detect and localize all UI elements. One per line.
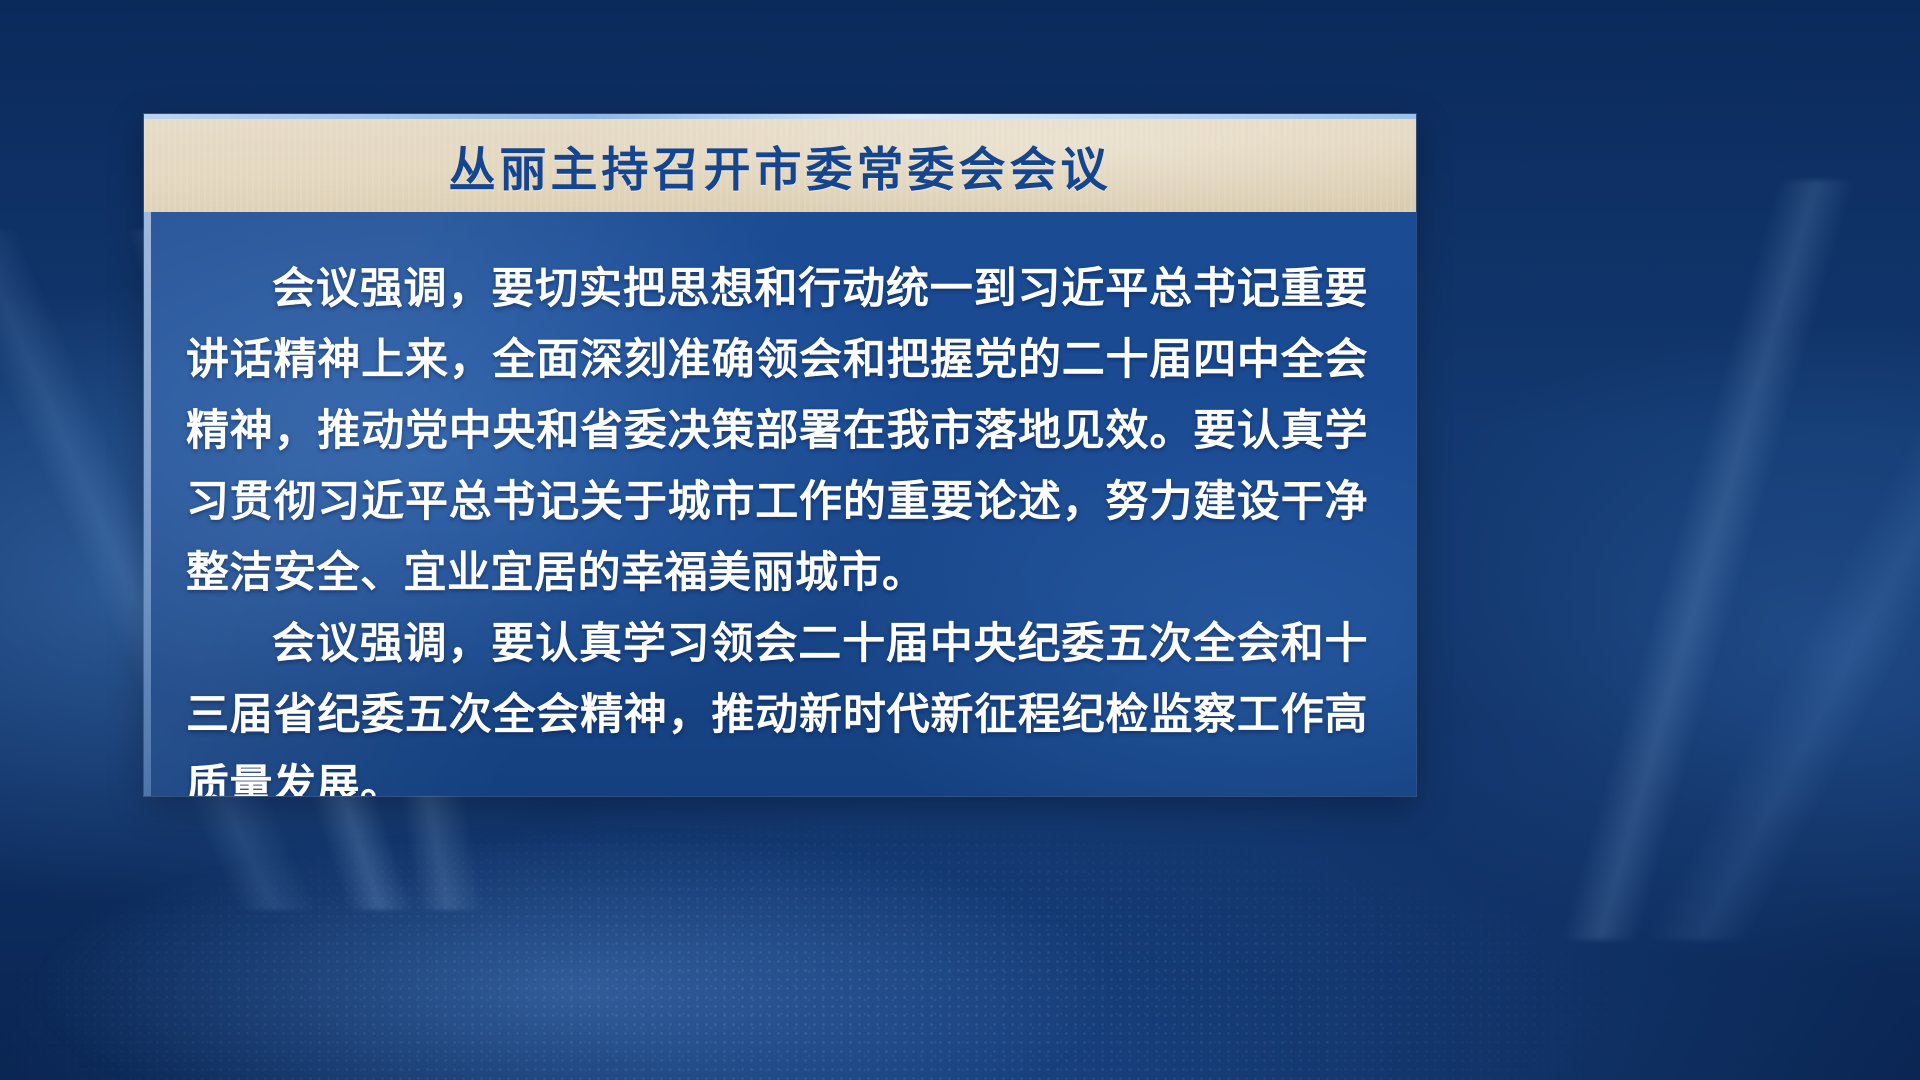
title-banner: 丛丽主持召开市委常委会会议	[144, 114, 1416, 212]
body-paragraph-1: 会议强调，要切实把思想和行动统一到习近平总书记重要讲话精神上来，全面深刻准确领会…	[186, 254, 1368, 609]
page-title: 丛丽主持召开市委常委会会议	[144, 114, 1416, 212]
world-map-dot-texture	[0, 750, 1920, 1080]
news-caption-card: 丛丽主持召开市委常委会会议 会议强调，要切实把思想和行动统一到习近平总书记重要讲…	[144, 114, 1416, 796]
body-paragraph-2: 会议强调，要认真学习领会二十届中央纪委五次全会和十三届省纪委五次全会精神，推动新…	[186, 609, 1368, 796]
body-panel: 会议强调，要切实把思想和行动统一到习近平总书记重要讲话精神上来，全面深刻准确领会…	[144, 212, 1416, 796]
body-text-container: 会议强调，要切实把思想和行动统一到习近平总书记重要讲话精神上来，全面深刻准确领会…	[144, 212, 1416, 796]
